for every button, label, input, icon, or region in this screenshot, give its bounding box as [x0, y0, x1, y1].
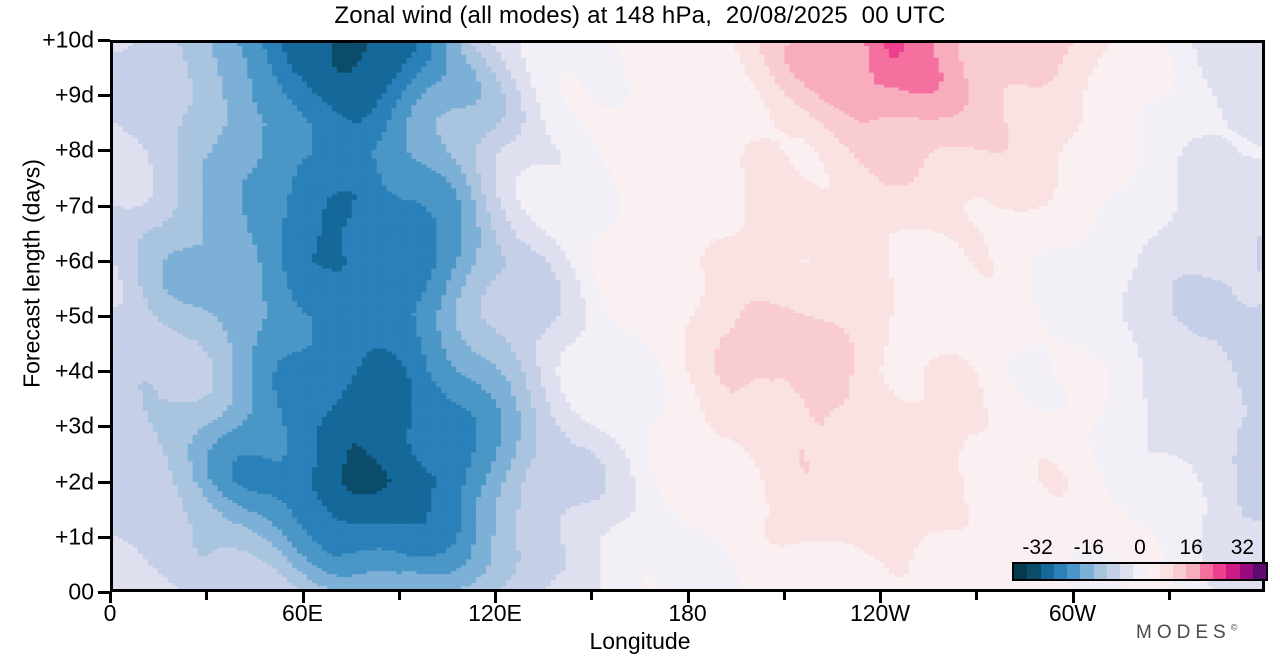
colorbar: -32-1601632 — [1012, 536, 1268, 581]
contour-field — [113, 43, 1262, 589]
x-axis-minor-tick-mark — [975, 592, 978, 600]
y-axis-tick-label: +3d — [55, 413, 94, 440]
colorbar-tick-label: -32 — [1022, 536, 1052, 560]
chart-title: Zonal wind (all modes) at 148 hPa, 20/08… — [0, 2, 1280, 30]
x-axis-tick-mark — [879, 592, 882, 603]
x-axis-minor-tick-mark — [205, 592, 208, 600]
colorbar-swatch — [1080, 564, 1093, 579]
x-axis-tick-label: 180 — [668, 600, 706, 627]
x-axis-tick-mark — [302, 592, 305, 603]
x-axis-tick-mark — [1072, 592, 1075, 603]
x-axis-tick-label: 60E — [282, 600, 323, 627]
y-axis-tick-mark — [98, 370, 110, 373]
colorbar-swatch — [1160, 564, 1173, 579]
y-axis-tick-mark — [98, 536, 110, 539]
colorbar-swatch — [1253, 564, 1266, 579]
y-axis-tick-mark — [98, 481, 110, 484]
chart-figure: Zonal wind (all modes) at 148 hPa, 20/08… — [0, 0, 1280, 664]
colorbar-swatch — [1067, 564, 1080, 579]
y-axis-tick-label: +7d — [55, 192, 94, 219]
colorbar-swatch — [1120, 564, 1133, 579]
colorbar-swatch — [1147, 564, 1160, 579]
y-axis-tick-label: 00 — [68, 579, 94, 606]
y-axis-tick-mark — [98, 260, 110, 263]
y-axis-tick-label: +9d — [55, 82, 94, 109]
x-axis-tick-label: 60W — [1049, 600, 1096, 627]
colorbar-swatch — [1041, 564, 1054, 579]
x-axis-minor-tick-mark — [590, 592, 593, 600]
colorbar-swatch — [1027, 564, 1040, 579]
y-axis-tick-label: +8d — [55, 137, 94, 164]
colorbar-swatch — [1107, 564, 1120, 579]
colorbar-swatch — [1014, 564, 1027, 579]
x-axis-tick-mark — [494, 592, 497, 603]
y-axis-tick-label: +1d — [55, 523, 94, 550]
colorbar-swatch — [1240, 564, 1253, 579]
colorbar-tick-labels: -32-1601632 — [1012, 536, 1268, 562]
x-axis-tick-label: 120E — [468, 600, 522, 627]
y-axis-tick-label: +2d — [55, 468, 94, 495]
y-axis-tick-mark — [98, 149, 110, 152]
y-axis-tick-label: +6d — [55, 247, 94, 274]
colorbar-swatch — [1200, 564, 1213, 579]
colorbar-tick-label: 0 — [1134, 536, 1146, 560]
modes-watermark-text: MODES — [1136, 622, 1231, 643]
y-axis-tick-mark — [98, 315, 110, 318]
colorbar-gradient — [1012, 562, 1268, 581]
modes-copyright-mark: © — [1231, 623, 1238, 633]
y-axis-tick-label: +5d — [55, 303, 94, 330]
colorbar-swatch — [1133, 564, 1146, 579]
y-axis-tick-mark — [98, 94, 110, 97]
x-axis-minor-tick-mark — [783, 592, 786, 600]
colorbar-tick-label: 32 — [1231, 536, 1254, 560]
y-axis-tick-mark — [98, 425, 110, 428]
x-axis-tick-mark — [687, 592, 690, 603]
x-axis-tick-label: 120W — [850, 600, 910, 627]
colorbar-swatch — [1094, 564, 1107, 579]
x-axis-minor-tick-mark — [398, 592, 401, 600]
x-axis-tick-mark — [109, 592, 112, 603]
y-axis-tick-mark — [98, 205, 110, 208]
x-axis-label: Longitude — [0, 628, 1280, 655]
colorbar-tick-label: 16 — [1180, 536, 1203, 560]
x-axis-minor-tick-mark — [1168, 592, 1171, 600]
colorbar-swatch — [1186, 564, 1199, 579]
y-axis-tick-label: +4d — [55, 358, 94, 385]
y-axis-label: Forecast length (days) — [19, 94, 46, 454]
contour-plot-area — [110, 40, 1265, 592]
x-axis-tick-label: 0 — [104, 600, 117, 627]
colorbar-swatch — [1173, 564, 1186, 579]
y-axis-tick-label: +10d — [42, 27, 94, 54]
colorbar-tick-label: -16 — [1074, 536, 1104, 560]
colorbar-swatch — [1213, 564, 1226, 579]
y-axis-tick-mark — [98, 39, 110, 42]
colorbar-swatch — [1054, 564, 1067, 579]
modes-watermark: MODES© — [1136, 622, 1237, 644]
colorbar-swatch — [1226, 564, 1239, 579]
